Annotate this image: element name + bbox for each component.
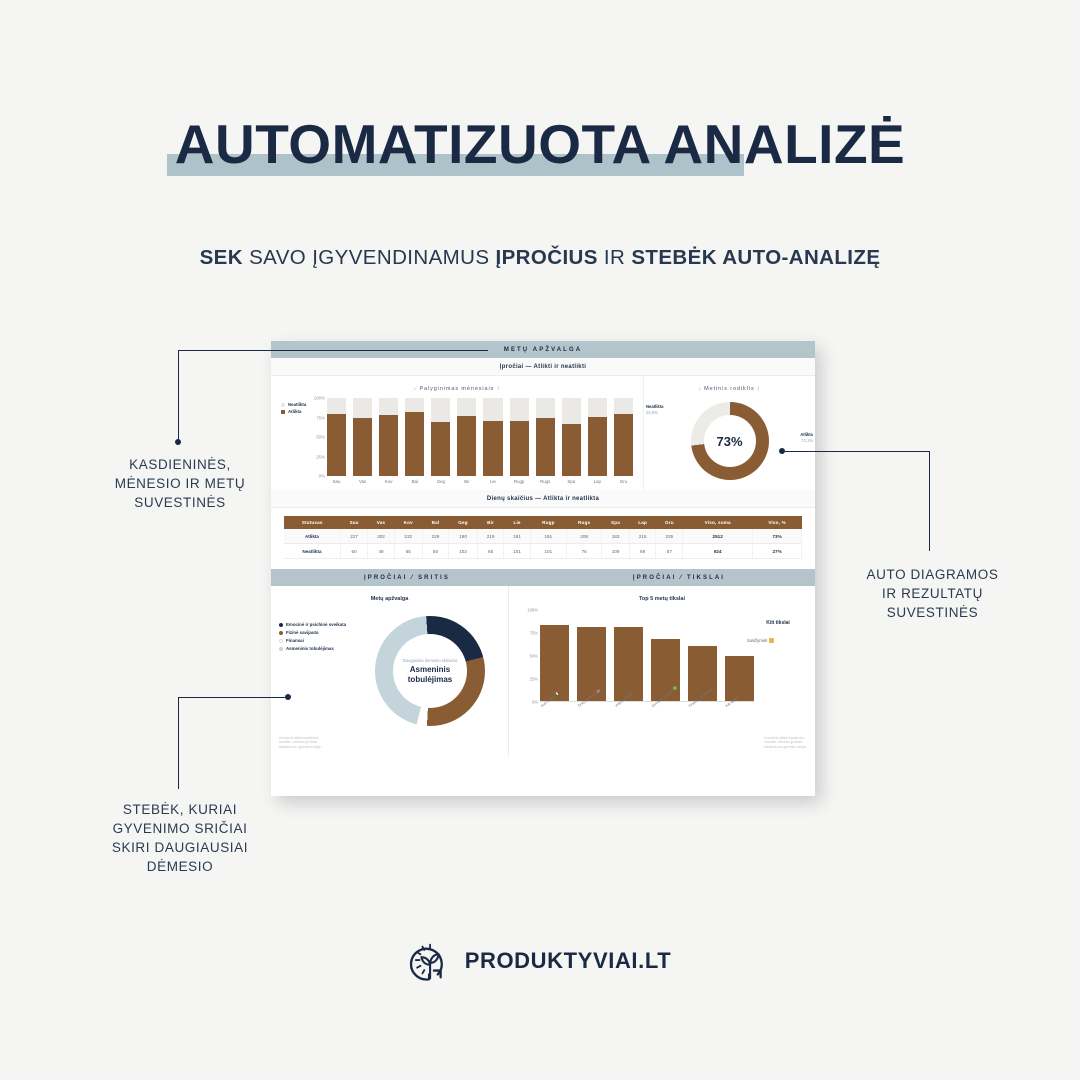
table-column-header: Bir: [477, 516, 503, 529]
areas-legend-label: Finansai: [286, 638, 304, 643]
areas-donut-caption: Daugiausia dėmesio skiriama: [403, 658, 458, 663]
table-column-header: Kov: [394, 516, 422, 529]
areas-legend-swatch: [279, 639, 283, 643]
table-column-header: Geg: [449, 516, 478, 529]
head-sprout-icon: [409, 938, 455, 984]
days-table-block: StatusasSauVasKovBalGegBirLieRugpRugsSpa…: [271, 508, 815, 569]
goals-ytick: 100%: [527, 608, 538, 613]
goals-panel-footnote: Duomenis atlikta kasdienine,savaitės, mė…: [764, 736, 807, 750]
areas-legend-swatch: [279, 631, 283, 635]
monthly-bar-column: [483, 398, 502, 476]
monthly-xtick: Sau: [327, 479, 346, 484]
monthly-bar-complete: [353, 418, 372, 477]
goals-bar: [651, 639, 680, 701]
goals-bar: [540, 625, 569, 701]
monthly-bar-complete: [510, 421, 529, 476]
monthly-xtick: Bir: [457, 479, 476, 484]
monthly-bar-column: [327, 398, 346, 476]
subtitle-part-5: STEBĖK AUTO-ANALIZĘ: [631, 246, 880, 269]
monthly-xtick: Rugs: [536, 479, 555, 484]
yearly-donut-callout-incomplete: Neatlikta 26,9%: [646, 404, 663, 415]
yearly-donut-callout-complete-value: 73,1%: [801, 438, 813, 443]
goals-bar: [577, 627, 606, 701]
goals-xtick-wrap: Geresnė miegas 🟢: [651, 702, 680, 732]
yearly-donut-callout-complete: Atlikta 73,1%: [800, 432, 813, 443]
table-cell: 49: [368, 544, 394, 559]
table-row-header: Neatlikta: [284, 544, 340, 559]
monthly-bar-incomplete: [536, 398, 555, 418]
monthly-xtick: Gru: [614, 479, 633, 484]
goals-xtick-wrap: Vidinė ramybė: [614, 702, 643, 732]
monthly-bar-incomplete: [431, 398, 450, 422]
areas-legend-item: Fizinė savijauta: [279, 630, 346, 635]
monthly-ytick: 0%: [319, 474, 325, 479]
table-column-header: Lap: [629, 516, 656, 529]
monthly-bar-complete: [457, 416, 476, 476]
table-cell: 73%: [753, 529, 802, 544]
goals-xtick-wrap: Auto kalba 🇮🇹: [540, 702, 569, 732]
table-cell: 215: [629, 529, 656, 544]
monthly-ytick: 75%: [316, 415, 325, 420]
table-column-header: Bal: [422, 516, 448, 529]
goals-ytick: 0%: [532, 700, 538, 705]
areas-legend-item: Emocinė ir psichinė sveikata: [279, 622, 346, 627]
monthly-bar-complete: [614, 414, 633, 476]
monthly-bar-column: [353, 398, 372, 476]
monthly-xtick: Rugp: [510, 479, 529, 484]
table-column-header: Spa: [602, 516, 629, 529]
goals-panel: Top 5 metų tikslai 0%25%50%75%100% Auto …: [509, 586, 815, 756]
legend-item-complete: Atlikta: [281, 409, 306, 414]
monthly-chart-legend: Neatlikta Atlikta: [281, 402, 306, 416]
monthly-chart-bars: [327, 398, 633, 476]
monthly-bar-incomplete: [562, 398, 581, 424]
table-row: Neatlikta6049655010265101101761096957924…: [284, 544, 802, 559]
goals-ytick: 25%: [530, 677, 538, 682]
note-icon: [769, 638, 774, 643]
other-goals-row-label: Susižymėti: [747, 638, 767, 643]
yearly-donut-hole: 73%: [704, 415, 756, 467]
leader-left-top-dot: [175, 439, 181, 445]
subtitle-part-3: ĮPROČIUS: [496, 246, 598, 269]
areas-legend-label: Fizinė savijauta: [286, 630, 318, 635]
table-cell: 69: [629, 544, 656, 559]
goals-chart-xaxis: Auto kalba 🇮🇹Žinių plėtimas 📚Vidinė ramy…: [540, 702, 754, 732]
table-column-header: Statusas: [284, 516, 340, 529]
goals-ytick: 75%: [530, 631, 538, 636]
monthly-chart-title-text: Palyginimas mėnesiais: [419, 386, 494, 392]
days-table-body: Atlikta227202232229190219191191208183215…: [284, 529, 802, 559]
monthly-ytick: 100%: [314, 396, 325, 401]
areas-donut-main: Asmeninis tobulėjimas: [408, 665, 452, 684]
overview-panel-row: ˪ Palyginimas mėnesiais ˩ Neatlikta Atli…: [271, 376, 815, 490]
monthly-bar-complete: [536, 418, 555, 476]
table-row-header: Atlikta: [284, 529, 340, 544]
monthly-xtick: Geg: [431, 479, 450, 484]
leader-left-bottom-vertical: [178, 697, 179, 789]
goals-chart-bars: [540, 610, 754, 702]
monthly-bar-incomplete: [457, 398, 476, 416]
table-cell: 101: [504, 544, 530, 559]
monthly-bar-complete: [405, 412, 424, 476]
table-cell: 235: [656, 529, 683, 544]
yearly-donut-value: 73%: [716, 434, 742, 449]
page-subtitle: SEK SAVO ĮGYVENDINAMUS ĮPROČIUS IR STEBĖ…: [0, 246, 1080, 270]
monthly-xtick: Spa: [562, 479, 581, 484]
dashboard-card: METŲ APŽVALGA Įpročiai — Atlikti ir neat…: [271, 341, 815, 796]
areas-legend: Emocinė ir psichinė sveikataFizinė savij…: [279, 622, 346, 654]
section-header-habits: Įpročiai — Atlikti ir neatlikti: [271, 358, 815, 376]
table-column-header: Rugs: [566, 516, 601, 529]
areas-donut-hole: Daugiausia dėmesio skiriama Asmeninis to…: [393, 634, 467, 708]
split-band-right: ĮPROČIAI ⁄ TIKSLAI: [543, 569, 815, 586]
yearly-donut-callout-incomplete-value: 26,9%: [646, 410, 658, 415]
leader-left-top-vertical: [178, 350, 179, 442]
table-cell: 27%: [753, 544, 802, 559]
table-cell: 60: [340, 544, 367, 559]
monthly-ytick: 50%: [316, 435, 325, 440]
goals-chart-plot: 0%25%50%75%100%: [540, 610, 754, 702]
section-header-habits-label: Įpročiai — Atlikti ir neatlikti: [500, 364, 586, 370]
monthly-comparison-panel: ˪ Palyginimas mėnesiais ˩ Neatlikta Atli…: [271, 376, 643, 490]
monthly-bar-incomplete: [353, 398, 372, 418]
other-goals-title: Kiti tikslai: [747, 620, 809, 626]
table-cell: 229: [422, 529, 448, 544]
table-cell: 227: [340, 529, 367, 544]
monthly-chart-xaxis: SauVasKovBalGegBirLieRugpRugsSpaLapGru: [327, 479, 633, 484]
areas-donut-chart: Daugiausia dėmesio skiriama Asmeninis to…: [375, 616, 485, 726]
split-band-left-label: ĮPROČIAI ⁄ SRITIS: [364, 575, 450, 581]
areas-panel-footnote: Duomenis atlikta kasdienine,savaitės, mė…: [279, 736, 322, 750]
monthly-bar-complete: [431, 422, 450, 476]
areas-panel-title: Metų apžvalga: [276, 591, 503, 606]
other-goals-row[interactable]: Susižymėti: [747, 638, 809, 643]
split-band-left: ĮPROČIAI ⁄ SRITIS: [271, 569, 543, 586]
areas-panel: Metų apžvalga Emocinė ir psichinė sveika…: [271, 586, 509, 756]
monthly-bar-complete: [379, 415, 398, 476]
table-cell: 191: [504, 529, 530, 544]
legend-item-incomplete: Neatlikta: [281, 402, 306, 407]
days-table-head: StatusasSauVasKovBalGegBirLieRugpRugsSpa…: [284, 516, 802, 529]
table-column-header: Vas: [368, 516, 394, 529]
monthly-bar-column: [588, 398, 607, 476]
monthly-bar-incomplete: [510, 398, 529, 421]
monthly-bar-complete: [327, 414, 346, 476]
yearly-indicator-panel: ˪ Metinis rodiklis ˩ 73% Neatlikta 26,9%…: [643, 376, 815, 490]
monthly-bar-column: [431, 398, 450, 476]
goals-xtick-wrap: Finansų valdymas: [688, 702, 717, 732]
monthly-bar-complete: [588, 417, 607, 476]
table-cell: 202: [368, 529, 394, 544]
page-title-wrap: AUTOMATIZUOTA ANALIZĖ: [0, 112, 1080, 176]
goals-ytick: 50%: [530, 654, 538, 659]
table-column-header: Viso, suma: [683, 516, 753, 529]
leader-right-dot: [779, 448, 785, 454]
monthly-bar-incomplete: [614, 398, 633, 414]
areas-legend-swatch: [279, 647, 283, 651]
yearly-donut-chart: 73%: [691, 402, 769, 480]
goals-bar: [614, 627, 643, 701]
monthly-bar-column: [379, 398, 398, 476]
table-cell: 208: [566, 529, 601, 544]
table-cell: 2512: [683, 529, 753, 544]
monthly-chart-yaxis: 0%25%50%75%100%: [305, 398, 325, 476]
areas-legend-label: Asmeninis tobulėjimas: [286, 646, 334, 651]
legend-label-incomplete: Neatlikta: [288, 402, 306, 407]
areas-donut-main-line1: Asmeninis: [410, 665, 450, 674]
monthly-chart-title: ˪ Palyginimas mėnesiais ˩: [277, 386, 637, 392]
callout-life-areas: STEBĖK, KURIAIGYVENIMO SRIČIAISKIRI DAUG…: [60, 800, 300, 876]
monthly-bar-incomplete: [405, 398, 424, 412]
table-cell: 183: [602, 529, 629, 544]
monthly-bar-column: [405, 398, 424, 476]
split-band-right-label: ĮPROČIAI ⁄ TIKSLAI: [633, 575, 725, 581]
dashboard-top-band-label: METŲ APŽVALGA: [504, 347, 582, 353]
table-cell: 109: [602, 544, 629, 559]
footer-logo: PRODUKTYVIAI.LT: [0, 938, 1080, 984]
leader-left-top-horizontal: [178, 350, 488, 351]
table-cell: 191: [530, 529, 566, 544]
table-column-header: Lie: [504, 516, 530, 529]
yearly-donut-wrap: 73%: [648, 398, 811, 484]
goals-panel-title: Top 5 metų tikslai: [514, 591, 810, 606]
areas-legend-swatch: [279, 623, 283, 627]
monthly-xtick: Kov: [379, 479, 398, 484]
table-column-header: Sau: [340, 516, 367, 529]
subtitle-part-1: SEK: [200, 246, 243, 269]
monthly-bar-complete: [562, 424, 581, 476]
days-table: StatusasSauVasKovBalGegBirLieRugpRugsSpa…: [284, 516, 802, 559]
table-cell: 924: [683, 544, 753, 559]
yearly-chart-title-text: Metinis rodiklis: [704, 386, 754, 392]
leader-right-horizontal: [782, 451, 930, 452]
monthly-bar-column: [614, 398, 633, 476]
table-cell: 101: [530, 544, 566, 559]
monthly-bar-incomplete: [379, 398, 398, 415]
monthly-ytick: 25%: [316, 454, 325, 459]
monthly-bar-column: [510, 398, 529, 476]
subtitle-wrap: SEK SAVO ĮGYVENDINAMUS ĮPROČIUS IR STEBĖ…: [0, 246, 1080, 270]
table-cell: 65: [477, 544, 503, 559]
section-header-days: Dienų skaičius — Atlikta ir neatlikta: [271, 490, 815, 508]
leader-left-bottom-dot: [285, 694, 291, 700]
monthly-xtick: Lap: [588, 479, 607, 484]
callout-daily-summaries: KASDIENINĖS,MĖNESIO IR METŲSUVESTINĖS: [60, 455, 300, 512]
table-column-header: Rugp: [530, 516, 566, 529]
areas-legend-item: Asmeninis tobulėjimas: [279, 646, 346, 651]
areas-legend-item: Finansai: [279, 638, 346, 643]
brand-name: PRODUKTYVIAI.LT: [465, 948, 672, 974]
yearly-chart-title: ˪ Metinis rodiklis ˩: [648, 386, 811, 392]
subtitle-part-2: SAVO ĮGYVENDINAMUS: [249, 246, 489, 269]
bottom-panels-row: Metų apžvalga Emocinė ir psichinė sveika…: [271, 586, 815, 756]
monthly-bar-column: [562, 398, 581, 476]
monthly-bar-incomplete: [588, 398, 607, 417]
monthly-xtick: Bal: [405, 479, 424, 484]
monthly-chart-plot: 0%25%50%75%100%: [327, 398, 633, 476]
legend-swatch-incomplete: [281, 403, 285, 407]
areas-donut-main-line2: tobulėjimas: [408, 675, 452, 684]
monthly-bar-column: [536, 398, 555, 476]
monthly-bar-complete: [483, 421, 502, 476]
goals-chart-yaxis: 0%25%50%75%100%: [520, 610, 538, 702]
table-cell: 102: [449, 544, 478, 559]
section-header-days-label: Dienų skaičius — Atlikta ir neatlikta: [487, 496, 599, 502]
monthly-bar-incomplete: [483, 398, 502, 421]
monthly-xtick: Vas: [353, 479, 372, 484]
table-cell: 232: [394, 529, 422, 544]
monthly-xtick: Lie: [483, 479, 502, 484]
table-cell: 65: [394, 544, 422, 559]
page-title: AUTOMATIZUOTA ANALIZĖ: [175, 112, 906, 176]
table-column-header: Viso, %: [753, 516, 802, 529]
areas-legend-label: Emocinė ir psichinė sveikata: [286, 622, 346, 627]
table-cell: 76: [566, 544, 601, 559]
monthly-bar-column: [457, 398, 476, 476]
goals-xtick-wrap: Kiti tikslai: [725, 702, 754, 732]
dashboard-split-band: ĮPROČIAI ⁄ SRITIS ĮPROČIAI ⁄ TIKSLAI: [271, 569, 815, 586]
monthly-bar-incomplete: [327, 398, 346, 414]
goals-bar: [725, 656, 754, 702]
table-column-header: Gru: [656, 516, 683, 529]
leader-left-bottom-horizontal: [178, 697, 288, 698]
table-cell: 50: [422, 544, 448, 559]
goals-xtick-wrap: Žinių plėtimas 📚: [577, 702, 606, 732]
subtitle-part-4: IR: [604, 246, 625, 269]
callout-auto-charts: AUTO DIAGRAMOSIR REZULTATŲSUVESTINĖS: [815, 565, 1050, 622]
table-cell: 190: [449, 529, 478, 544]
legend-label-complete: Atlikta: [288, 409, 301, 414]
leader-right-vertical: [929, 451, 930, 551]
table-cell: 219: [477, 529, 503, 544]
table-cell: 57: [656, 544, 683, 559]
other-goals-box: Kiti tikslai Susižymėti: [747, 620, 809, 643]
table-header-row: StatusasSauVasKovBalGegBirLieRugpRugsSpa…: [284, 516, 802, 529]
areas-donut-wrap: Daugiausia dėmesio skiriama Asmeninis to…: [375, 616, 485, 726]
table-row: Atlikta227202232229190219191191208183215…: [284, 529, 802, 544]
legend-swatch-complete: [281, 410, 285, 414]
